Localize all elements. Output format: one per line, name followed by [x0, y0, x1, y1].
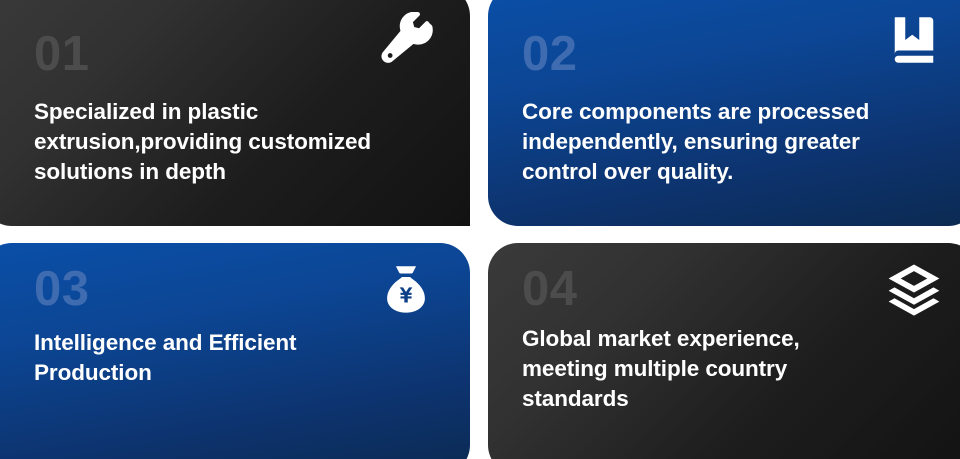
card-02-headline: Core components are processed independen… [522, 97, 944, 187]
feature-card-01[interactable]: 01 Specialized in plastic extrusion,prov… [0, 0, 470, 226]
money-bag-yen-icon [378, 261, 434, 317]
feature-card-03[interactable]: 03 Intelligence and Efficient Production [0, 243, 470, 459]
card-01-number: 01 [34, 30, 436, 79]
wrench-icon [378, 12, 434, 68]
card-03-headline: Intelligence and Efficient Production [34, 328, 434, 388]
card-04-number: 04 [522, 265, 944, 314]
card-02-number: 02 [522, 30, 944, 79]
feature-card-grid: 01 Specialized in plastic extrusion,prov… [0, 0, 960, 459]
book-bookmark-icon [886, 12, 942, 68]
card-04-headline: Global market experience, meeting multip… [522, 324, 922, 414]
feature-card-02[interactable]: 02 Core components are processed indepen… [488, 0, 960, 226]
card-03-number: 03 [34, 265, 436, 314]
layers-stack-icon [886, 261, 942, 317]
feature-card-04[interactable]: 04 Global market experience, meeting mul… [488, 243, 960, 459]
card-01-headline: Specialized in plastic extrusion,providi… [34, 97, 434, 187]
